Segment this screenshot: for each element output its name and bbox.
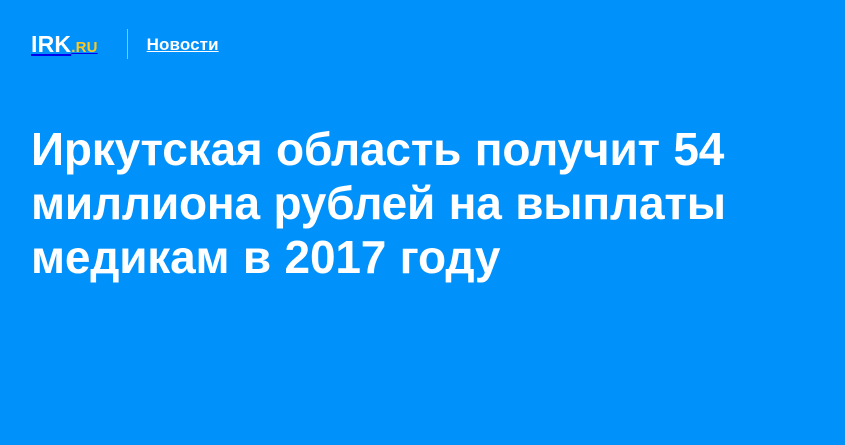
vertical-divider-icon: [127, 29, 128, 59]
site-header: IRK .RU Новости: [31, 26, 219, 62]
section-link-news[interactable]: Новости: [147, 36, 219, 53]
news-share-card: IRK .RU Новости Иркутская область получи…: [0, 0, 845, 445]
logo-text-main: IRK: [31, 33, 71, 56]
site-logo[interactable]: IRK .RU: [31, 33, 98, 56]
article-headline: Иркутская область получит 54 миллиона ру…: [31, 122, 731, 284]
logo-text-suffix: .RU: [71, 40, 97, 55]
